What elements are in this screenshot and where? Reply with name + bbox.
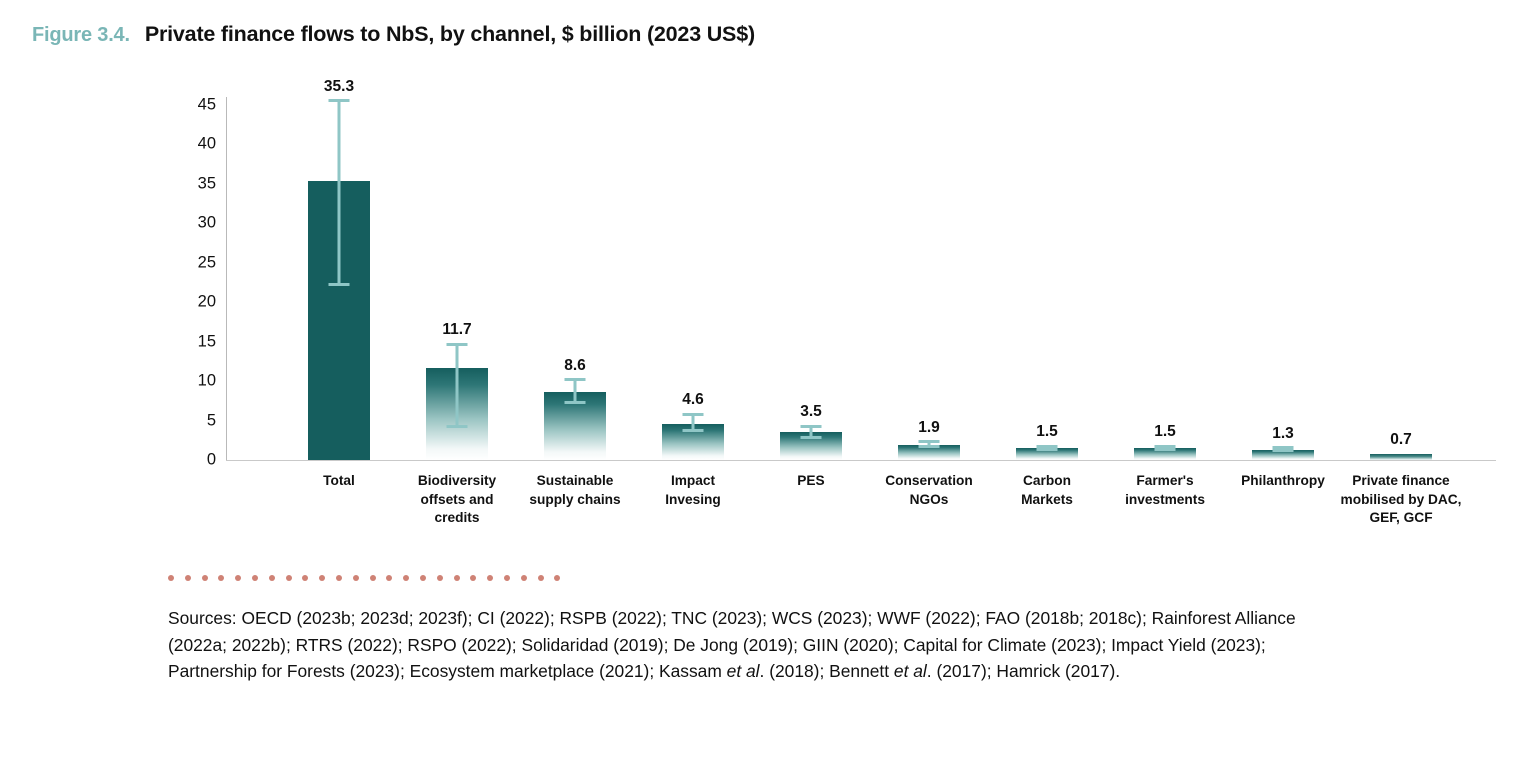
x-category-label: Private financemobilised by DAC,GEF, GCF (1333, 472, 1469, 528)
divider-dot (554, 575, 560, 581)
plot-area: 35.311.78.64.63.51.91.51.51.30.7 (226, 97, 1466, 460)
error-bar-cap-lower (683, 429, 704, 432)
y-tick-label: 35 (176, 174, 216, 193)
bar-value-label: 3.5 (800, 403, 822, 421)
y-tick-label: 20 (176, 293, 216, 312)
error-bar-cap-upper (329, 99, 350, 102)
x-category-label: Total (271, 472, 407, 491)
bar-group: 8.6 (516, 97, 634, 460)
bar-value-label: 8.6 (564, 357, 586, 375)
bar-group: 35.3 (280, 97, 398, 460)
divider-dot (185, 575, 191, 581)
divider-dot (521, 575, 527, 581)
x-category-label: PES (743, 472, 879, 491)
bar-group: 0.7 (1342, 97, 1460, 460)
x-category-label: Biodiversityoffsets andcredits (389, 472, 525, 528)
dot-divider (168, 575, 560, 581)
figure-header: Figure 3.4. Private finance flows to NbS… (32, 22, 755, 47)
bar-chart: 454035302520151050 35.311.78.64.63.51.91… (0, 90, 1526, 540)
bar[interactable] (1370, 454, 1432, 460)
divider-dot (386, 575, 392, 581)
page-title: Private finance flows to NbS, by channel… (145, 22, 755, 47)
x-category-label: Sustainablesupply chains (507, 472, 643, 509)
bar-group: 1.5 (988, 97, 1106, 460)
divider-dot (470, 575, 476, 581)
divider-dot (252, 575, 258, 581)
y-tick-label: 45 (176, 95, 216, 114)
y-tick-label: 15 (176, 332, 216, 351)
error-bar-cap-upper (447, 343, 468, 346)
x-category-label: ConservationNGOs (861, 472, 997, 509)
error-bar-cap-lower (447, 425, 468, 428)
divider-dot (269, 575, 275, 581)
divider-dot (336, 575, 342, 581)
divider-dot (353, 575, 359, 581)
x-category-label: Philanthropy (1215, 472, 1351, 491)
divider-dot (487, 575, 493, 581)
divider-dot (319, 575, 325, 581)
error-bar-cap-upper (683, 413, 704, 416)
divider-dot (235, 575, 241, 581)
y-tick-label: 25 (176, 253, 216, 272)
error-bar-cap-upper (565, 378, 586, 381)
error-bar-cap-lower (1037, 448, 1058, 451)
divider-dot (202, 575, 208, 581)
error-bar-cap-lower (1273, 449, 1294, 452)
error-bar-cap-lower (1155, 448, 1176, 451)
error-bar-line (574, 380, 577, 403)
error-bar-cap-upper (801, 425, 822, 428)
sources-italic-text: et al (727, 661, 760, 681)
y-axis-tick-labels: 454035302520151050 (170, 97, 216, 460)
divider-dot (504, 575, 510, 581)
divider-dot (370, 575, 376, 581)
figure-number-label: Figure 3.4. (32, 24, 130, 47)
y-tick-label: 5 (176, 411, 216, 430)
sources-text: . (2018); Bennett (760, 661, 894, 681)
divider-dot (168, 575, 174, 581)
sources-note: Sources: OECD (2023b; 2023d; 2023f); CI … (168, 605, 1296, 685)
x-category-label: CarbonMarkets (979, 472, 1115, 509)
bar-value-label: 35.3 (324, 78, 354, 96)
divider-dot (454, 575, 460, 581)
y-tick-label: 30 (176, 214, 216, 233)
bar-group: 3.5 (752, 97, 870, 460)
y-tick-label: 40 (176, 135, 216, 154)
divider-dot (538, 575, 544, 581)
bar-group: 1.5 (1106, 97, 1224, 460)
bar-group: 1.9 (870, 97, 988, 460)
sources-italic-text: et al (894, 661, 927, 681)
divider-dot (437, 575, 443, 581)
error-bar-cap-lower (329, 283, 350, 286)
divider-dot (420, 575, 426, 581)
bar-value-label: 1.5 (1036, 423, 1058, 441)
divider-dot (218, 575, 224, 581)
x-category-label: ImpactInvesing (625, 472, 761, 509)
error-bar-cap-lower (565, 401, 586, 404)
bar-value-label: 0.7 (1390, 431, 1412, 449)
bar-value-label: 1.5 (1154, 423, 1176, 441)
divider-dot (403, 575, 409, 581)
divider-dot (286, 575, 292, 581)
error-bar-cap-upper (919, 440, 940, 443)
divider-dot (302, 575, 308, 581)
error-bar-line (338, 101, 341, 284)
sources-text: . (2017); Hamrick (2017). (927, 661, 1120, 681)
bar-value-label: 11.7 (442, 321, 471, 339)
error-bar-line (456, 344, 459, 426)
x-axis-baseline (226, 460, 1496, 461)
bar-group: 4.6 (634, 97, 752, 460)
bar-value-label: 4.6 (682, 391, 704, 409)
bar-group: 1.3 (1224, 97, 1342, 460)
error-bar-cap-lower (801, 436, 822, 439)
bar-value-label: 1.9 (918, 419, 940, 437)
y-tick-label: 0 (176, 451, 216, 470)
y-tick-label: 10 (176, 372, 216, 391)
bar-group: 11.7 (398, 97, 516, 460)
error-bar-cap-lower (919, 445, 940, 448)
bar-value-label: 1.3 (1272, 425, 1294, 443)
x-category-label: Farmer'sinvestments (1097, 472, 1233, 509)
